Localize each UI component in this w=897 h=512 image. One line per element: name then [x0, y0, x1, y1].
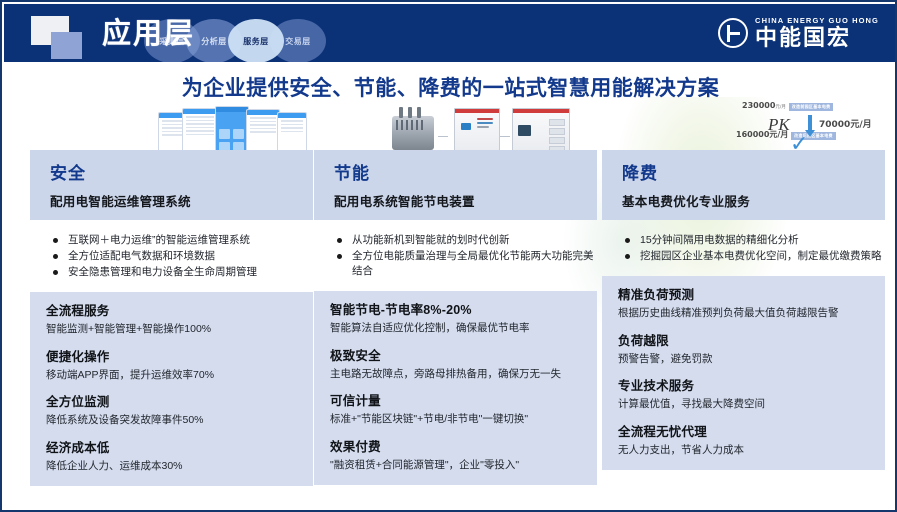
down-arrow-icon [808, 115, 812, 131]
columns-container: 安全 配用电智能运维管理系统 互联网＋电力运维”的智能运维管理系统 全方位适配电… [2, 102, 897, 502]
feature-desc: 降低企业人力、运维成本30% [46, 459, 300, 474]
feature-title: 专业技术服务 [618, 378, 872, 395]
column-header-cost-reduction: 降费 基本电费优化专业服务 [602, 150, 885, 220]
feature-panel-energy-saving: 智能节电-节电率8%-20% 智能算法自适应优化控制，确保最优节电率 极致安全 … [314, 291, 597, 485]
layer-circle-label: 交易层 [285, 36, 311, 47]
column-cost-reduction: 230000元/月 改造前园区基本电费 PK 160000元/月 改造后园区基本… [602, 102, 885, 470]
header-title: 应用层 [102, 16, 195, 52]
pk-saving-unit: 元/月 [850, 120, 871, 130]
phone-mockup [246, 109, 280, 150]
pk-before-label: 改造前园区基本电费 [789, 103, 834, 111]
layer-circle-label: 分析层 [201, 36, 227, 47]
pk-saving-number: 70000 [819, 120, 850, 130]
phone-mockup [277, 112, 307, 150]
feature-title: 全方位监测 [46, 394, 300, 411]
pk-saving-value: 70000元/月 [819, 117, 872, 130]
check-mark-icon: ✓ [790, 133, 808, 150]
feature-title: 精准负荷预测 [618, 287, 872, 304]
pk-comparison-graphic: 230000元/月 改造前园区基本电费 PK 160000元/月 改造后园区基本… [720, 102, 885, 150]
feature-desc: 智能监测+智能管理+智能操作100% [46, 322, 300, 337]
feature-desc: 降低系统及设备突发故障事件50% [46, 413, 300, 428]
switchgear-icon [512, 108, 570, 150]
feature-title: 可信计量 [330, 393, 584, 410]
brand-name-en: CHINA ENERGY GUO HONG [755, 16, 879, 25]
feature-desc: 智能算法自适应优化控制，确保最优节电率 [330, 321, 584, 336]
column-energy-saving: 节能 配用电系统智能节电装置 从功能新机到智能就的划时代创新 全方位电能质量治理… [314, 102, 597, 485]
slide-root: 采集层 分析层 交易层 服务层 应用层 CHINA ENERGY GUO HON… [0, 0, 897, 512]
feature-title: 经济成本低 [46, 440, 300, 457]
feature-item: 负荷越限 预警告警，避免罚款 [618, 333, 872, 367]
feature-item: 效果付费 "融资租赁+合同能源管理"，企业"零投入" [330, 439, 584, 473]
feature-desc: 根据历史曲线精准预判负荷最大值负荷越限告警 [618, 306, 872, 321]
column-bullets-energy-saving: 从功能新机到智能就的划时代创新 全方位电能质量治理与全局最优化节能两大功能完美结… [314, 220, 597, 291]
feature-desc: 移动端APP界面，提升运维效率70% [46, 368, 300, 383]
guohong-logo-icon [718, 18, 748, 48]
feature-title: 极致安全 [330, 348, 584, 365]
cabinet-icon [454, 108, 500, 150]
column-key-label: 降费 [622, 159, 885, 184]
feature-title: 便捷化操作 [46, 349, 300, 366]
column-key-label: 节能 [334, 159, 597, 184]
column-image-mobile-app [30, 102, 313, 150]
equipment-icons [392, 102, 570, 150]
phone-mockup [182, 108, 218, 150]
pk-after-unit: 元/月 [769, 130, 788, 139]
column-bullets-cost-reduction: 15分钟间隔用电数据的精细化分析 挖掘园区企业基本电费优化空间，制定最优缴费策略 [602, 220, 885, 276]
bullet-item: 全方位电能质量治理与全局最优化节能两大功能完美结合 [336, 249, 595, 279]
square-blue-icon [51, 32, 82, 59]
feature-item: 经济成本低 降低企业人力、运维成本30% [46, 440, 300, 474]
feature-panel-cost-reduction: 精准负荷预测 根据历史曲线精准预判负荷最大值负荷越限告警 负荷越限 预警告警，避… [602, 276, 885, 470]
slide-header: 采集层 分析层 交易层 服务层 应用层 CHINA ENERGY GUO HON… [4, 4, 897, 62]
feature-title: 智能节电-节电率8%-20% [330, 302, 584, 319]
layer-circle-label: 服务层 [243, 36, 269, 47]
pk-before-number: 230000 [742, 102, 775, 110]
column-subtitle: 配用电系统智能节电装置 [334, 191, 597, 210]
feature-item: 专业技术服务 计算最优值，寻找最大降费空间 [618, 378, 872, 412]
column-bullets-safety: 互联网＋电力运维”的智能运维管理系统 全方位适配电气数据和环境数据 安全隐患管理… [30, 220, 313, 292]
pk-before-unit: 元/月 [775, 105, 786, 110]
pk-after-value: 160000元/月 改造后园区基本电费 [736, 129, 836, 140]
feature-item: 极致安全 主电路无故障点，旁路母排热备用，确保万无一失 [330, 348, 584, 382]
column-image-equipment [314, 102, 597, 150]
page-title: 为企业提供安全、节能、降费的一站式智慧用能解决方案 [2, 72, 897, 102]
header-logo-squares [31, 16, 91, 58]
feature-item: 全流程无忧代理 无人力支出，节省人力成本 [618, 424, 872, 458]
transformer-icon [392, 116, 434, 150]
feature-item: 精准负荷预测 根据历史曲线精准预判负荷最大值负荷越限告警 [618, 287, 872, 321]
column-header-energy-saving: 节能 配用电系统智能节电装置 [314, 150, 597, 220]
feature-item: 可信计量 标准+"节能区块链"+节电/非节电"一键切换" [330, 393, 584, 427]
feature-title: 全流程服务 [46, 303, 300, 320]
feature-item: 全方位监测 降低系统及设备突发故障事件50% [46, 394, 300, 428]
pk-after-number: 160000 [736, 130, 769, 139]
phone-mockups-icon [158, 106, 308, 150]
pk-before-value: 230000元/月 改造前园区基本电费 [742, 102, 833, 111]
feature-desc: 预警告警，避免罚款 [618, 352, 872, 367]
column-image-pk-comparison: 230000元/月 改造前园区基本电费 PK 160000元/月 改造后园区基本… [602, 102, 885, 150]
column-subtitle: 配用电智能运维管理系统 [50, 191, 313, 210]
column-subtitle: 基本电费优化专业服务 [622, 191, 885, 210]
feature-panel-safety: 全流程服务 智能监测+智能管理+智能操作100% 便捷化操作 移动端APP界面，… [30, 292, 313, 486]
bullet-item: 互联网＋电力运维”的智能运维管理系统 [52, 233, 311, 248]
brand-name-cn: 中能国宏 [755, 26, 879, 49]
bullet-item: 全方位适配电气数据和环境数据 [52, 249, 311, 264]
feature-item: 便捷化操作 移动端APP界面，提升运维效率70% [46, 349, 300, 383]
feature-title: 效果付费 [330, 439, 584, 456]
feature-desc: 无人力支出，节省人力成本 [618, 443, 872, 458]
bullet-item: 15分钟间隔用电数据的精细化分析 [624, 233, 883, 248]
column-key-label: 安全 [50, 159, 313, 184]
bullet-item: 挖掘园区企业基本电费优化空间，制定最优缴费策略 [624, 249, 883, 264]
feature-desc: 主电路无故障点，旁路母排热备用，确保万无一失 [330, 367, 584, 382]
feature-desc: 计算最优值，寻找最大降费空间 [618, 397, 872, 412]
bullet-item: 从功能新机到智能就的划时代创新 [336, 233, 595, 248]
feature-desc: 标准+"节能区块链"+节电/非节电"一键切换" [330, 412, 584, 427]
column-header-safety: 安全 配用电智能运维管理系统 [30, 150, 313, 220]
bullet-item: 安全隐患管理和电力设备全生命周期管理 [52, 265, 311, 280]
phone-mockup-active [215, 106, 249, 150]
feature-title: 全流程无忧代理 [618, 424, 872, 441]
feature-item: 智能节电-节电率8%-20% 智能算法自适应优化控制，确保最优节电率 [330, 302, 584, 336]
feature-desc: "融资租赁+合同能源管理"，企业"零投入" [330, 458, 584, 473]
brand-text-block: CHINA ENERGY GUO HONG 中能国宏 [755, 16, 879, 49]
layer-circle-service-active[interactable]: 服务层 [228, 19, 284, 62]
company-logo: CHINA ENERGY GUO HONG 中能国宏 [718, 16, 879, 49]
feature-item: 全流程服务 智能监测+智能管理+智能操作100% [46, 303, 300, 337]
feature-title: 负荷越限 [618, 333, 872, 350]
column-safety: 安全 配用电智能运维管理系统 互联网＋电力运维”的智能运维管理系统 全方位适配电… [30, 102, 313, 486]
